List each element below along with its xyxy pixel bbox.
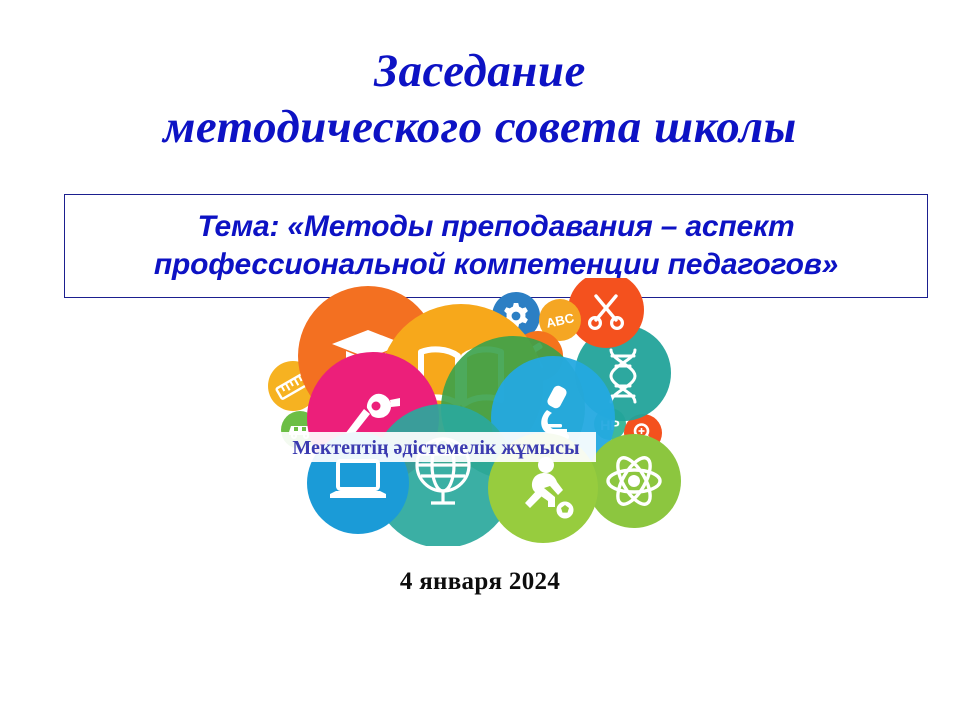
banner-text: Мектептің әдістемелік жұмысы — [292, 437, 580, 459]
slide-canvas: Заседание методического совета школы Тем… — [0, 0, 960, 720]
page-title: Заседание методического совета школы — [0, 48, 960, 152]
date-text: 4 января 2024 — [0, 568, 960, 596]
title-line-2: методического совета школы — [0, 104, 960, 152]
subtitle-line-1: Тема: «Методы преподавания – аспект — [198, 208, 795, 246]
education-circles-graphic: HP — [248, 278, 718, 546]
title-line-1: Заседание — [0, 48, 960, 96]
